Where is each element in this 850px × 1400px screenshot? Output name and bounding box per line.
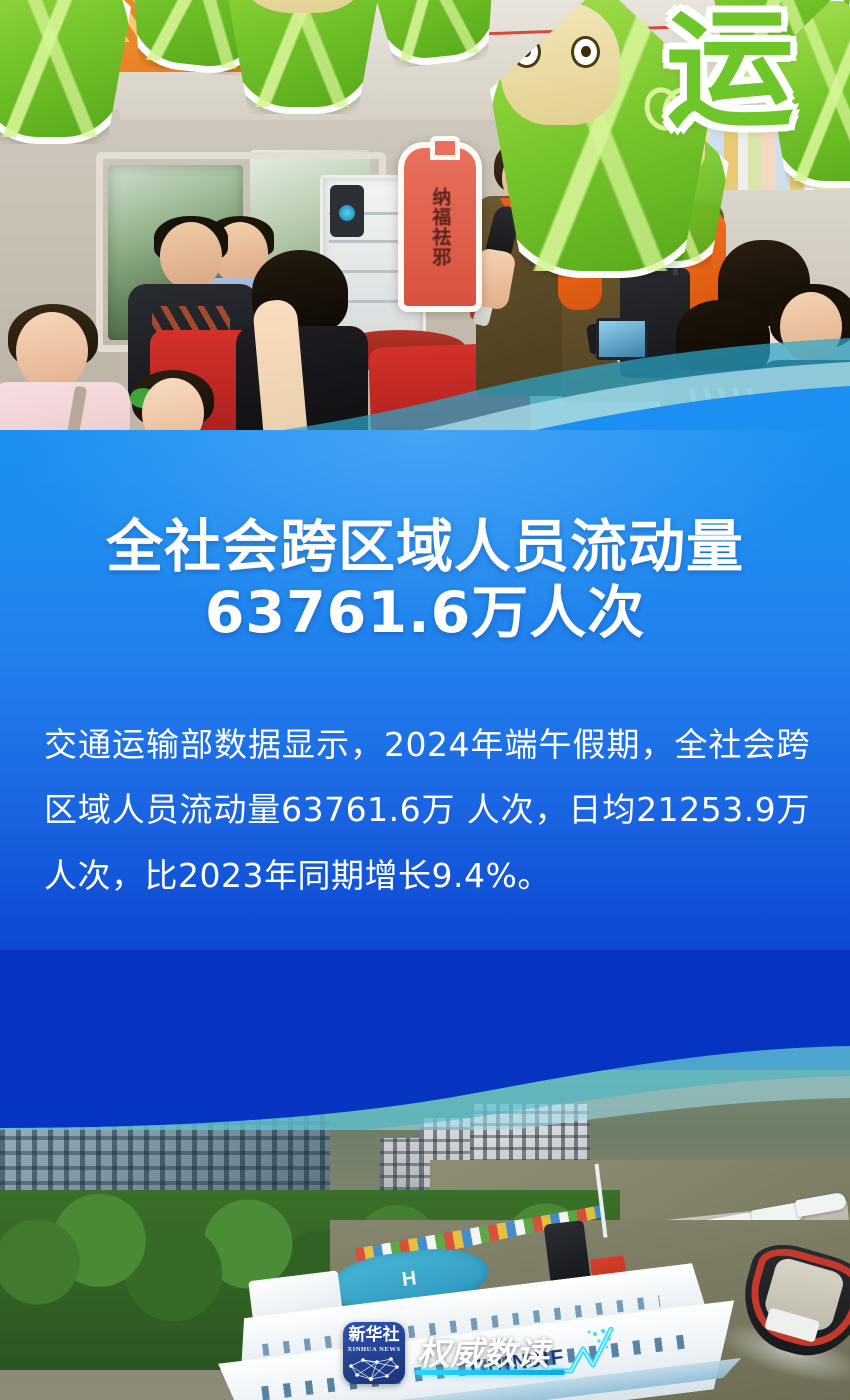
headline-line-1: 全社会跨区域人员流动量 bbox=[106, 514, 744, 580]
ornament-text: 纳福祛邪 bbox=[430, 187, 451, 267]
logo-bar: 新华社 XINHUA NEWS 权威数读 bbox=[343, 1322, 625, 1384]
infographic-poster: 纳福祛邪 bbox=[0, 0, 850, 1400]
red-calligraphy-ornament: 纳福祛邪 bbox=[398, 142, 482, 312]
xinhua-logo-cn: 新华社 bbox=[343, 1327, 405, 1344]
program-badge-underline bbox=[415, 1370, 565, 1375]
page-title: 全社会跨区域人员流动量 63761.6万人次 bbox=[0, 514, 850, 646]
program-name-text: 权威数读 bbox=[417, 1337, 549, 1370]
network-graphic-icon bbox=[343, 1352, 405, 1384]
program-badge: 权威数读 bbox=[417, 1327, 625, 1379]
body-paragraph: 交通运输部数据显示，2024年端午假期，全社会跨区域人员流动量63761.6万 … bbox=[44, 712, 810, 908]
xinhua-news-logo: 新华社 XINHUA NEWS bbox=[343, 1322, 405, 1384]
yun-character-decoration: 运 bbox=[660, 0, 800, 163]
headline-line-2: 63761.6万人次 bbox=[0, 580, 850, 646]
portable-speaker bbox=[330, 185, 364, 237]
